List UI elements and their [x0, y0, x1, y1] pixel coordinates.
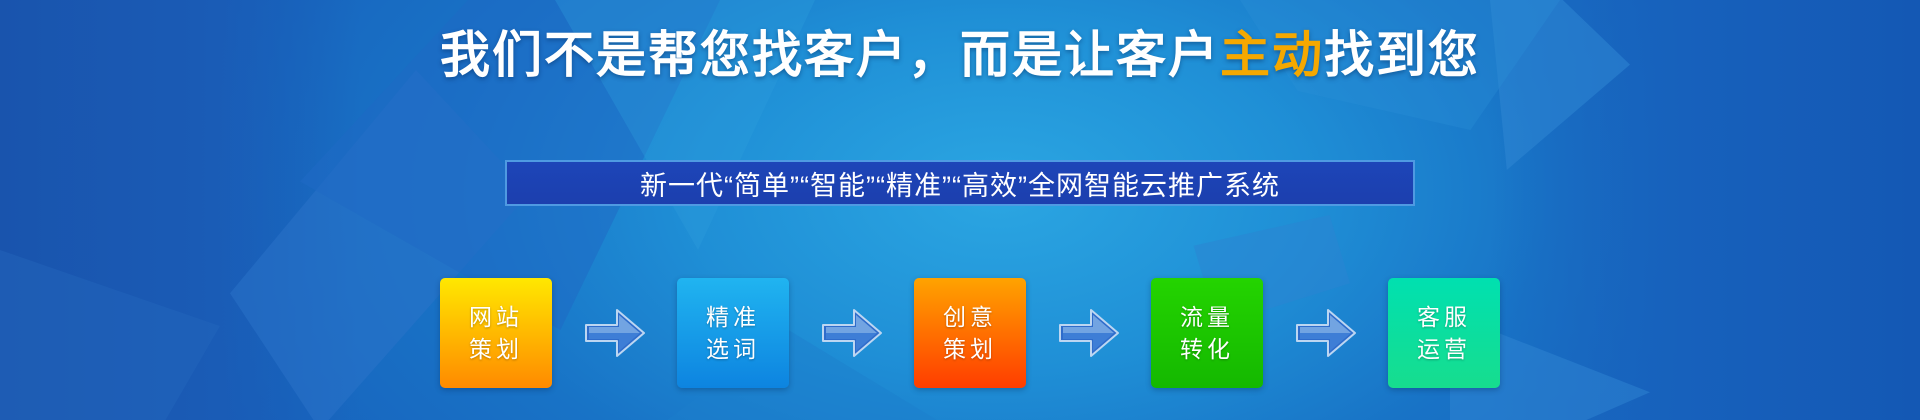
- flow-step-2[interactable]: 精准选词: [677, 278, 789, 388]
- flow-step-label-line1: 创意: [943, 301, 997, 333]
- flow-step-label-line2: 转化: [1180, 333, 1234, 365]
- flow-step-1[interactable]: 网站策划: [440, 278, 552, 388]
- flow-step-3[interactable]: 创意策划: [914, 278, 1026, 388]
- flow-step-label-line2: 选词: [706, 333, 760, 365]
- flow-arrow-3: [1026, 307, 1151, 359]
- flow-arrow-2: [789, 307, 914, 359]
- flow-step-4[interactable]: 流量转化: [1151, 278, 1263, 388]
- headline-highlight: 主动: [1220, 27, 1324, 83]
- subtitle-bar: 新一代“简单”“智能”“精准”“高效”全网智能云推广系统: [505, 160, 1415, 206]
- process-flow: 网站策划精准选词创意策划流量转化客服运营: [440, 268, 1500, 398]
- flow-step-label-line2: 策划: [469, 333, 523, 365]
- headline-part-1: 我们不是帮您找客户，而是让客户: [440, 27, 1220, 83]
- arrow-right-icon: [1295, 307, 1357, 359]
- flow-step-label-line2: 策划: [943, 333, 997, 365]
- flow-step-label-line2: 运营: [1417, 333, 1471, 365]
- flow-arrow-4: [1263, 307, 1388, 359]
- promo-banner: 我们不是帮您找客户，而是让客户主动找到您 新一代“简单”“智能”“精准”“高效”…: [0, 0, 1920, 420]
- flow-step-label-line1: 客服: [1417, 301, 1471, 333]
- flow-step-label-line1: 精准: [706, 301, 760, 333]
- flow-step-5[interactable]: 客服运营: [1388, 278, 1500, 388]
- flow-step-label-line1: 网站: [469, 301, 523, 333]
- flow-step-label-line1: 流量: [1180, 301, 1234, 333]
- flow-arrow-1: [552, 307, 677, 359]
- subtitle-text: 新一代“简单”“智能”“精准”“高效”全网智能云推广系统: [640, 164, 1280, 203]
- arrow-right-icon: [1058, 307, 1120, 359]
- arrow-right-icon: [584, 307, 646, 359]
- headline-part-2: 找到您: [1324, 27, 1480, 83]
- arrow-right-icon: [821, 307, 883, 359]
- headline: 我们不是帮您找客户，而是让客户主动找到您: [0, 26, 1920, 84]
